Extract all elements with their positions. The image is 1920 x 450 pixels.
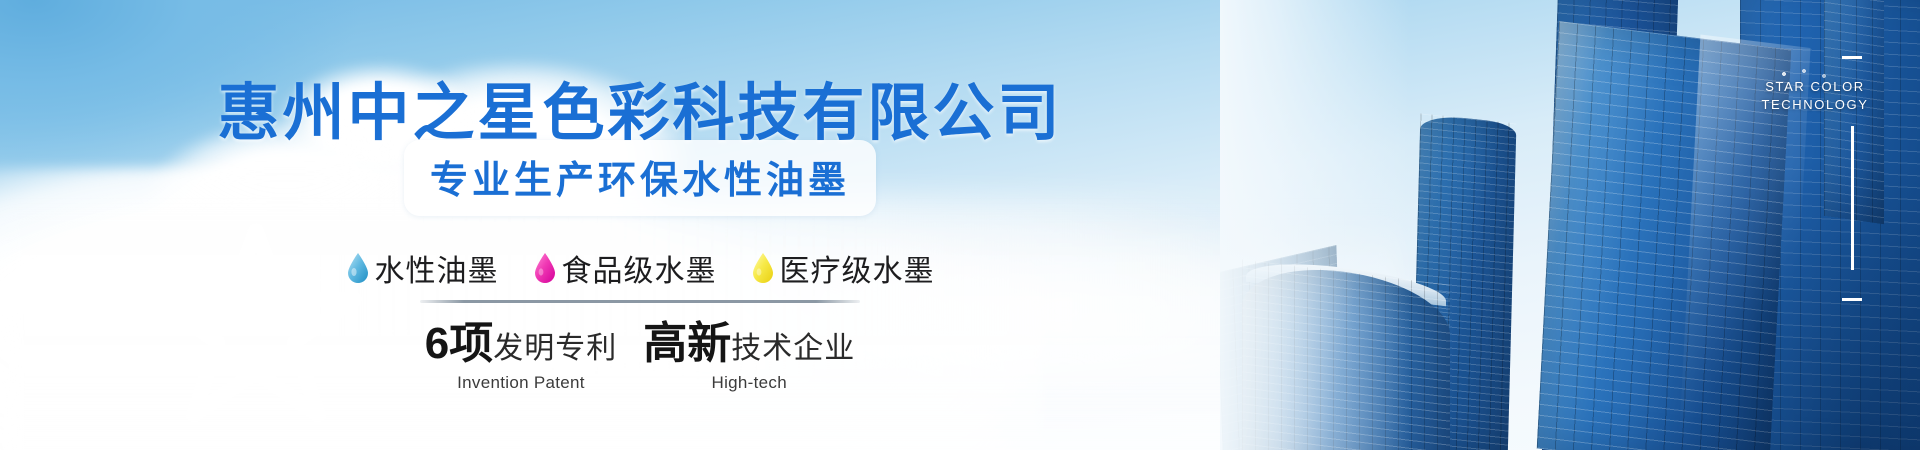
banner-content: 惠州中之星色彩科技有限公司 专业生产环保水性油墨 水性油墨 xyxy=(0,0,1280,450)
building-brand-line1: STAR COLOR xyxy=(1740,78,1890,96)
ink-type-label: 医疗级水墨 xyxy=(780,246,935,290)
credential-strong: 高新 xyxy=(643,319,731,368)
ink-type-item: 水性油墨 xyxy=(346,246,499,290)
credential-cn: 高新技术企业 xyxy=(643,322,855,366)
ink-type-list: 水性油墨 食品级水墨 xyxy=(0,246,1280,290)
credential-cn: 6项发明专利 xyxy=(425,322,617,366)
ink-type-label: 食品级水墨 xyxy=(562,246,717,290)
credential-light: 技术企业 xyxy=(731,332,855,365)
section-divider xyxy=(420,300,860,303)
credential-badge: 6项发明专利 Invention Patent xyxy=(425,322,617,393)
building-brand-label: STAR COLOR TECHNOLOGY xyxy=(1740,78,1890,114)
skyline-photo: STAR COLOR TECHNOLOGY xyxy=(1220,0,1920,450)
credential-en: Invention Patent xyxy=(425,373,617,393)
label-tick-bottom xyxy=(1842,298,1862,301)
credential-badge: 高新技术企业 High-tech xyxy=(643,322,855,393)
subtitle-pill: 专业生产环保水性油墨 xyxy=(404,140,876,216)
water-drop-icon xyxy=(751,252,775,284)
credential-light: 发明专利 xyxy=(493,332,617,365)
label-tick-line xyxy=(1851,126,1854,270)
subtitle-pill-wrap: 专业生产环保水性油墨 xyxy=(0,140,1280,216)
label-tick-top xyxy=(1842,56,1862,59)
water-drop-icon xyxy=(533,252,557,284)
ink-type-label: 水性油墨 xyxy=(375,246,499,290)
ink-type-item: 食品级水墨 xyxy=(533,246,717,290)
promo-banner: Star Color STAR COLOR TECHNOLOGY 惠州中之星色彩… xyxy=(0,0,1920,450)
ink-type-item: 医疗级水墨 xyxy=(751,246,935,290)
credential-en: High-tech xyxy=(643,373,855,393)
credential-strong: 6项 xyxy=(425,319,493,368)
water-drop-icon xyxy=(346,252,370,284)
building-brand-line2: TECHNOLOGY xyxy=(1740,96,1890,114)
credential-badges: 6项发明专利 Invention Patent 高新技术企业 High-tech xyxy=(0,322,1280,393)
company-title: 惠州中之星色彩科技有限公司 xyxy=(0,62,1280,152)
